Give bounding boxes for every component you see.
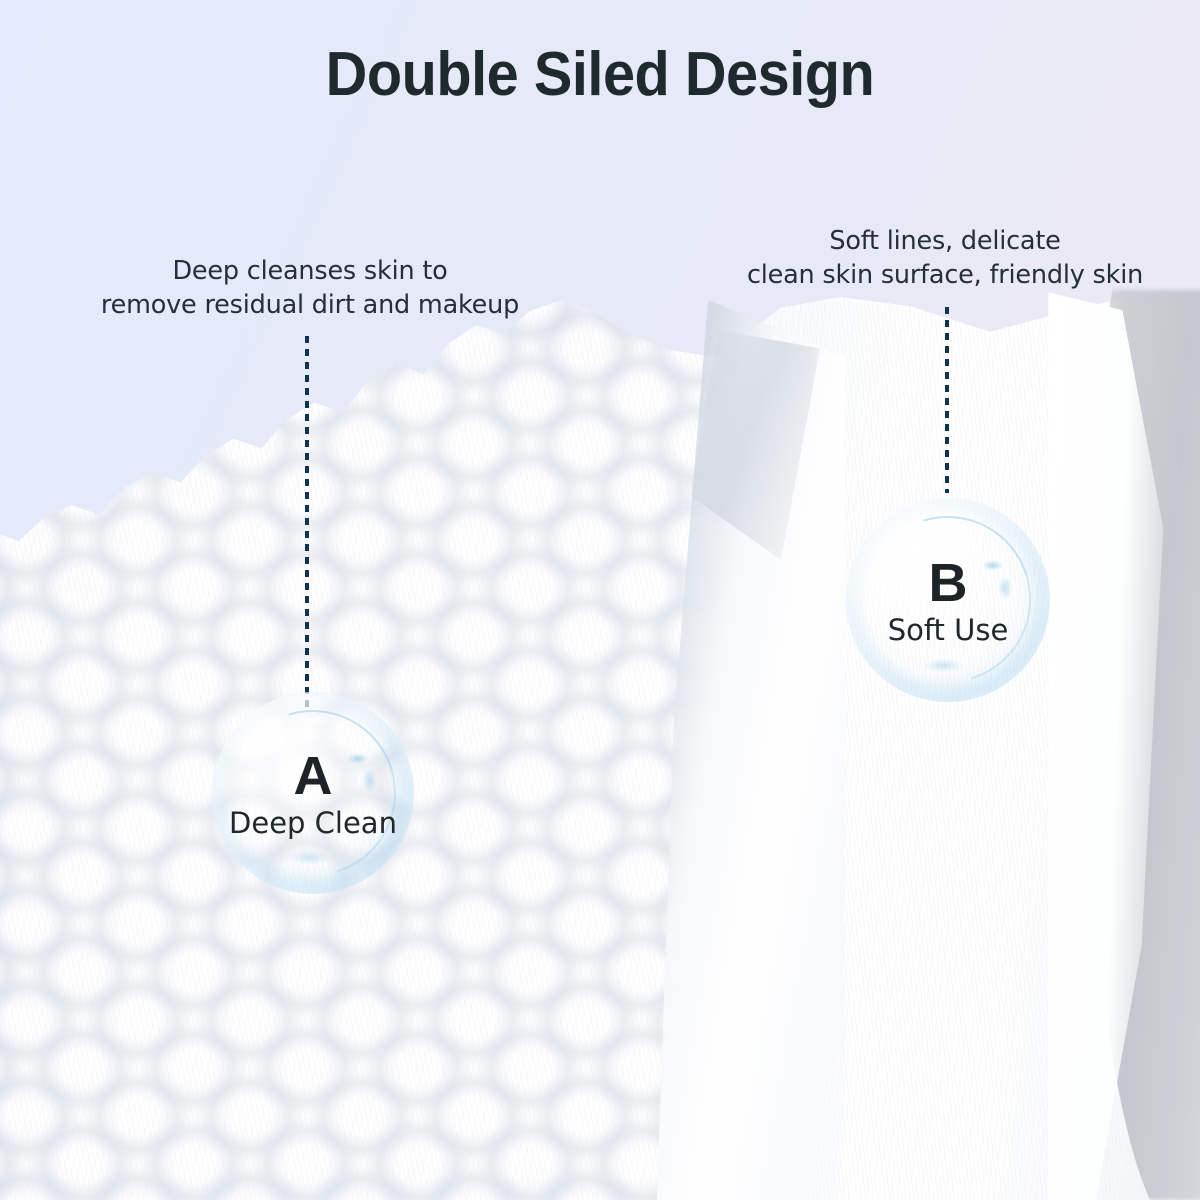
badge-bubble-a: A Deep Clean bbox=[212, 692, 414, 894]
cotton-pad-fold-ridge bbox=[655, 300, 845, 1200]
badge-letter-b: B bbox=[929, 556, 968, 610]
callout-text-right: Soft lines, delicate clean skin surface,… bbox=[720, 225, 1170, 292]
cotton-pad-fold-shadow bbox=[690, 330, 820, 560]
badge-letter-a: A bbox=[294, 749, 333, 803]
page-title: Double Siled Design bbox=[42, 44, 1158, 106]
infographic-canvas: Double Siled Design Deep cleanses skin t… bbox=[0, 0, 1200, 1200]
badge-caption-b: Soft Use bbox=[888, 616, 1009, 645]
cotton-pad-curled-edge-rim bbox=[1048, 292, 1168, 1200]
badge-bubble-b: B Soft Use bbox=[846, 498, 1050, 702]
callout-text-left: Deep cleanses skin to remove residual di… bbox=[60, 255, 560, 322]
leader-line-b bbox=[945, 307, 949, 493]
cotton-pad-smooth-face bbox=[700, 286, 1200, 1200]
cotton-pad-curled-edge-shadow bbox=[1070, 290, 1200, 1200]
leader-line-a bbox=[305, 336, 309, 710]
badge-caption-a: Deep Clean bbox=[229, 809, 397, 838]
